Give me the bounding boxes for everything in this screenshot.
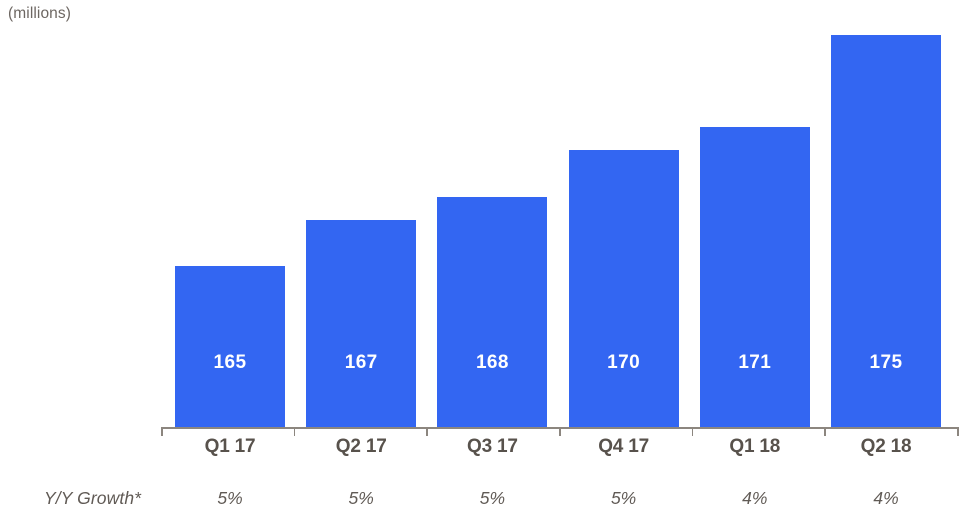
category-label-5: Q1 18 xyxy=(689,434,821,460)
bar-q4-17[interactable]: 170 xyxy=(569,150,679,428)
bar-q1-17[interactable]: 165 xyxy=(175,266,285,428)
category-label-6: Q2 18 xyxy=(820,434,952,460)
category-label-2: Q2 17 xyxy=(295,434,427,460)
bar-q2-17[interactable]: 167 xyxy=(306,220,416,428)
category-label-4: Q4 17 xyxy=(558,434,690,460)
growth-value-2: 5% xyxy=(295,484,427,512)
growth-value-6: 4% xyxy=(820,484,952,512)
category-label-row: Q1 17Q2 17Q3 17Q4 17Q1 18Q2 18 xyxy=(0,434,961,462)
growth-value-1: 5% xyxy=(164,484,296,512)
bar-value-label: 175 xyxy=(831,353,941,372)
bar-q3-17[interactable]: 168 xyxy=(437,197,547,428)
growth-value-5: 4% xyxy=(689,484,821,512)
bar-rect xyxy=(437,197,547,428)
bar-rect xyxy=(569,150,679,428)
category-label-1: Q1 17 xyxy=(164,434,296,460)
plot-area: 165167168170171175 xyxy=(0,0,961,428)
bar-value-label: 168 xyxy=(437,353,547,372)
bar-value-label: 167 xyxy=(306,353,416,372)
bar-q2-18[interactable]: 175 xyxy=(831,35,941,428)
bar-rect xyxy=(175,266,285,428)
growth-value-3: 5% xyxy=(426,484,558,512)
growth-annotation-row: Y/Y Growth* 5%5%5%5%4%4% xyxy=(0,484,961,514)
bar-rect xyxy=(306,220,416,428)
bar-value-label: 170 xyxy=(569,353,679,372)
category-label-3: Q3 17 xyxy=(426,434,558,460)
bar-value-label: 171 xyxy=(700,353,810,372)
chart-canvas: (millions) 165167168170171175 Q1 17Q2 17… xyxy=(0,0,961,525)
bar-q1-18[interactable]: 171 xyxy=(700,127,810,428)
growth-row-title: Y/Y Growth* xyxy=(44,484,141,512)
bar-rect xyxy=(700,127,810,428)
bar-value-label: 165 xyxy=(175,353,285,372)
growth-value-4: 5% xyxy=(558,484,690,512)
